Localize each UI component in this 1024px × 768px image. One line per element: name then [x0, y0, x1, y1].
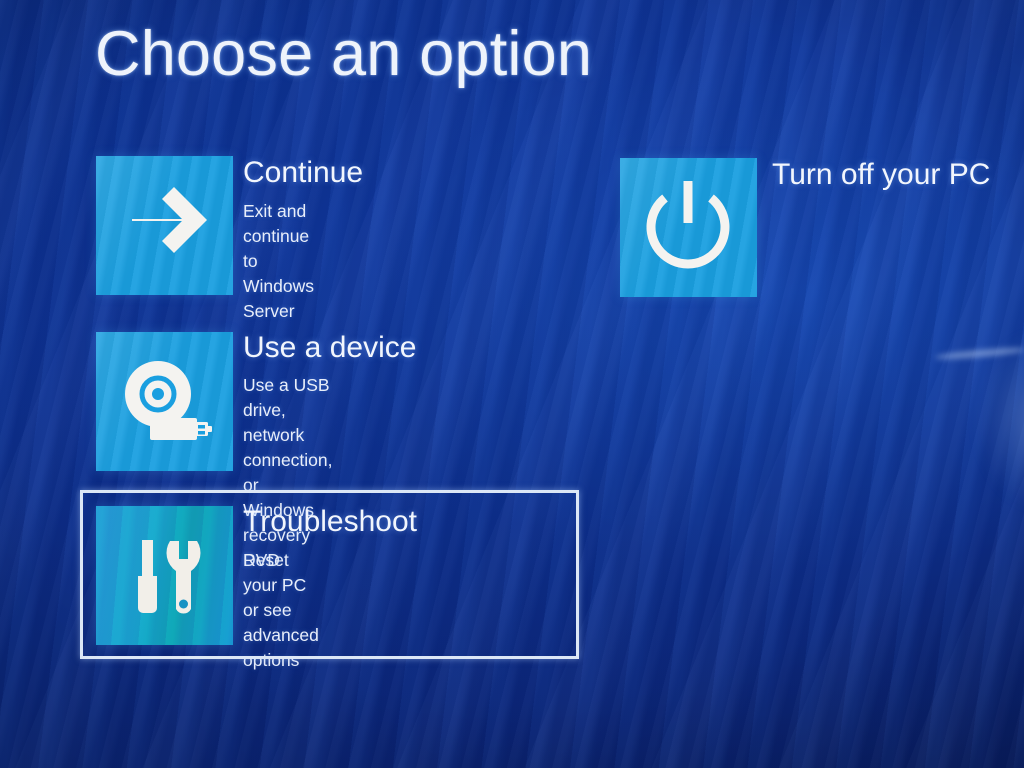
troubleshoot-description: Reset your PC or see advanced options — [243, 548, 319, 673]
turn-off-your-pc-heading: Turn off your PC — [772, 158, 990, 192]
options-container: Choose an option Continue Exit and conti… — [0, 0, 1024, 768]
arrow-right-icon — [96, 156, 233, 295]
use-a-device-description: Use a USB drive, network connection, or … — [243, 373, 333, 573]
troubleshoot-tile[interactable] — [96, 506, 233, 645]
use-a-device-tile[interactable] — [96, 332, 233, 471]
continue-description: Exit and continue to Windows Server — [243, 199, 314, 324]
screwdriver-wrench-icon — [96, 506, 233, 645]
recovery-screen: Choose an option Continue Exit and conti… — [0, 0, 1024, 768]
page-title: Choose an option — [95, 18, 592, 90]
use-a-device-heading: Use a device — [243, 331, 416, 365]
disc-usb-icon — [96, 332, 233, 471]
power-icon — [620, 158, 757, 297]
continue-tile[interactable] — [96, 156, 233, 295]
continue-heading: Continue — [243, 156, 363, 190]
turn-off-your-pc-tile[interactable] — [620, 158, 757, 297]
troubleshoot-heading: Troubleshoot — [243, 505, 417, 539]
